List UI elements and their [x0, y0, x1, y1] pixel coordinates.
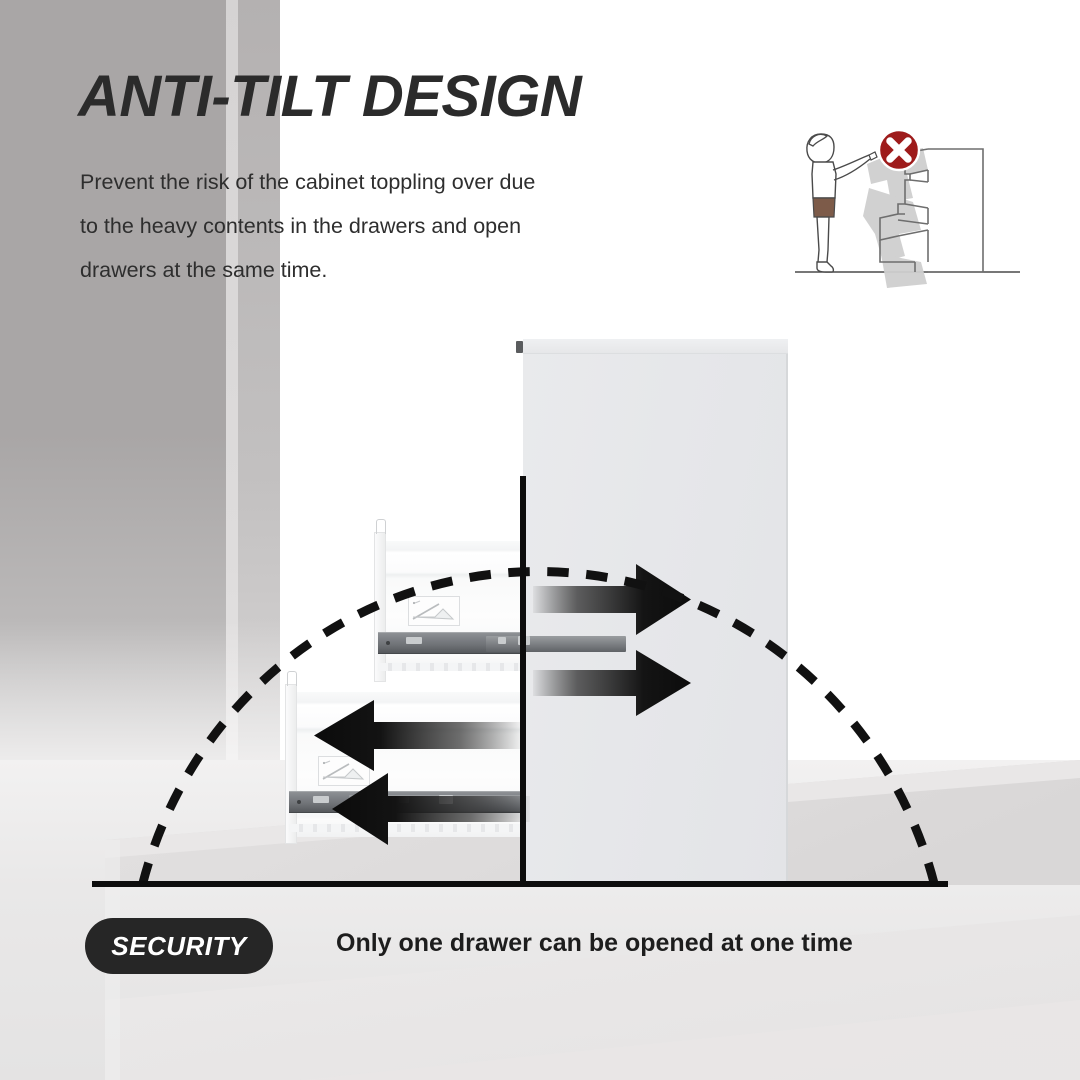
footer-caption: Only one drawer can be opened at one tim… — [336, 929, 853, 958]
page-title: ANTI-TILT DESIGN — [78, 63, 581, 130]
security-badge: SECURITY — [85, 918, 273, 974]
tipping-hazard-illustration — [795, 112, 1020, 292]
upper-drawer-bottom-edge — [378, 663, 523, 671]
arrow-right-upper — [533, 562, 693, 637]
arrow-left-upper — [312, 698, 522, 773]
subtitle-line-3: drawers at the same time. — [80, 248, 660, 292]
upper-drawer-side-bracket — [374, 532, 386, 682]
cabinet-top-edge-marker — [516, 341, 523, 353]
red-x-circle-icon — [879, 130, 919, 170]
cabinet-top-panel — [523, 339, 788, 354]
arrow-right-lower — [533, 648, 693, 718]
subtitle-line-1: Prevent the risk of the cabinet toppling… — [80, 160, 660, 204]
arrow-left-lower — [330, 770, 530, 848]
upper-drawer-slide-sticker — [408, 596, 460, 626]
upper-drawer-slide-rail — [378, 632, 523, 654]
security-badge-label: SECURITY — [111, 931, 246, 962]
subtitle-line-2: to the heavy contents in the drawers and… — [80, 204, 660, 248]
page-subtitle: Prevent the risk of the cabinet toppling… — [80, 160, 660, 292]
anti-tilt-design-infographic: ANTI-TILT DESIGN Prevent the risk of the… — [0, 0, 1080, 1080]
lower-drawer-side-bracket — [285, 684, 297, 844]
